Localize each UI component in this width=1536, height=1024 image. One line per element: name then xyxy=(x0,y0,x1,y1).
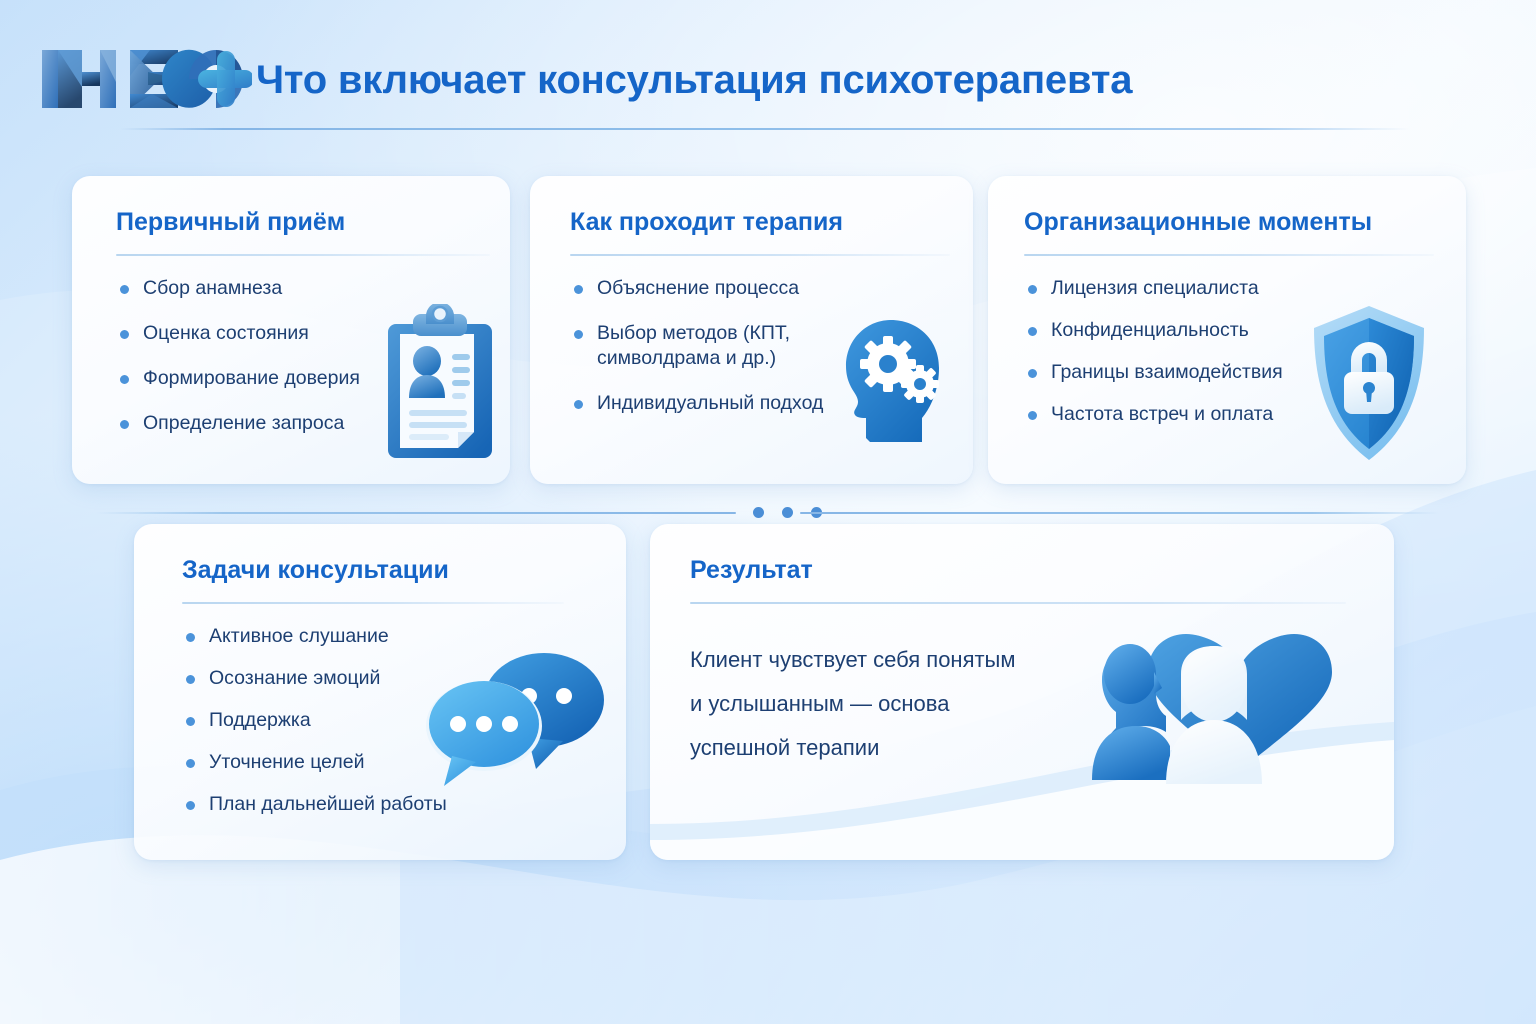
speech-bubbles-icon xyxy=(416,638,616,794)
divider-line-left xyxy=(96,512,736,514)
head-gears-icon xyxy=(836,316,958,452)
list-item: Индивидуальный подход xyxy=(570,391,836,416)
list-item: План дальнейшей работы xyxy=(182,792,482,817)
list-item: Объяснение процесса xyxy=(570,276,836,301)
section-divider xyxy=(96,506,1440,520)
clipboard-person-icon xyxy=(378,304,500,462)
card-primary-reception[interactable]: Первичный приём Сбор анамнеза Оценка сос… xyxy=(72,176,510,484)
card-title-divider xyxy=(182,602,564,604)
card-title: Как проходит терапия xyxy=(570,208,843,237)
card-how-therapy-works[interactable]: Как проходит терапия Объяснение процесса… xyxy=(530,176,973,484)
result-line: и услышанным — основа xyxy=(690,682,1120,726)
card-result[interactable]: Результат Клиент чувствует себя понятым … xyxy=(650,524,1394,860)
shield-lock-icon xyxy=(1306,302,1432,464)
card-title: Результат xyxy=(690,556,813,585)
header-divider xyxy=(120,128,1410,130)
bullet-list: Лицензия специалиста Конфиденциальность … xyxy=(1024,276,1324,427)
heart-couple-icon xyxy=(1080,616,1350,790)
divider-dot xyxy=(782,507,793,518)
list-item: Выбор методов (КПТ, символдрама и др.) xyxy=(570,321,836,371)
list-item: Частота встреч и оплата xyxy=(1024,402,1324,427)
divider-dot xyxy=(753,507,764,518)
card-consultation-goals[interactable]: Задачи консультации Активное слушание Ос… xyxy=(134,524,626,860)
divider-line-right xyxy=(800,512,1440,514)
header: Что включает консультация психотерапевта xyxy=(0,0,1536,140)
list-item: Сбор анамнеза xyxy=(116,276,426,301)
bullet-list: Объяснение процесса Выбор методов (КПТ, … xyxy=(570,276,836,416)
card-title-divider xyxy=(690,602,1346,604)
list-item: Конфиденциальность xyxy=(1024,318,1324,343)
result-line: Клиент чувствует себя понятым xyxy=(690,638,1120,682)
result-body-text: Клиент чувствует себя понятым и услышанн… xyxy=(690,638,1120,770)
list-item: Границы взаимодействия xyxy=(1024,360,1324,385)
list-item: Лицензия специалиста xyxy=(1024,276,1324,301)
card-title: Задачи консультации xyxy=(182,556,449,585)
page-title: Что включает консультация психотерапевта xyxy=(256,58,1132,103)
card-title-divider xyxy=(1024,254,1434,256)
card-organizational-matters[interactable]: Организационные моменты Лицензия специал… xyxy=(988,176,1466,484)
neo-plus-logo xyxy=(38,42,252,116)
card-title: Первичный приём xyxy=(116,208,345,237)
result-line: успешной терапии xyxy=(690,726,1120,770)
infographic-canvas: Что включает консультация психотерапевта… xyxy=(0,0,1536,1024)
card-title-divider xyxy=(570,254,950,256)
card-title: Организационные моменты xyxy=(1024,208,1372,237)
card-title-divider xyxy=(116,254,490,256)
